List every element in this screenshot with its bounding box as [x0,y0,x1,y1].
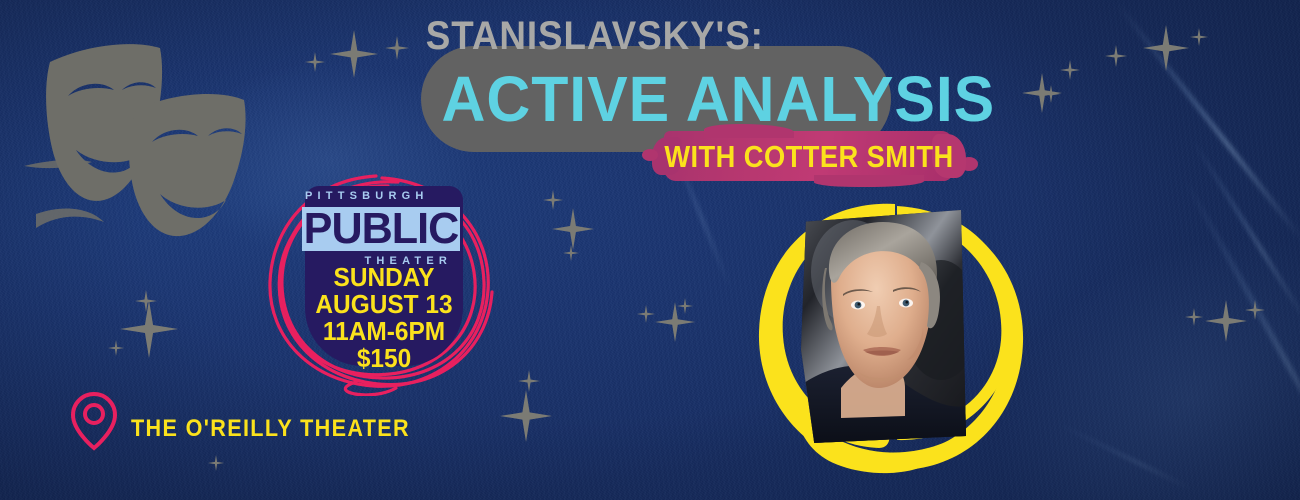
page-title: ACTIVE ANALYSIS [442,58,879,140]
brush-flick [642,149,658,161]
event-day: SUNDAY [305,264,463,291]
presenter-name: WITH COTTER SMITH [681,136,936,178]
event-price: $150 [305,345,463,372]
event-date: AUGUST 13 [305,291,463,318]
cotter-smith-headshot [801,210,966,443]
event-banner: STANISLAVSKY'S: ACTIVE ANALYSIS WITH COT… [0,0,1300,500]
map-pin-icon [70,390,118,452]
logo-top-text: PITTSBURGH [305,190,433,202]
event-time: 11AM-6PM [305,318,463,345]
event-info: SUNDAY AUGUST 13 11AM-6PM $150 [305,264,463,372]
venue-name: THE O'REILLY THEATER [131,415,410,443]
logo-main-text: PUBLIC [304,203,459,255]
portrait-container [745,190,1035,480]
brush-flick [960,157,978,171]
title-eyebrow: STANISLAVSKY'S: [52,14,1248,59]
